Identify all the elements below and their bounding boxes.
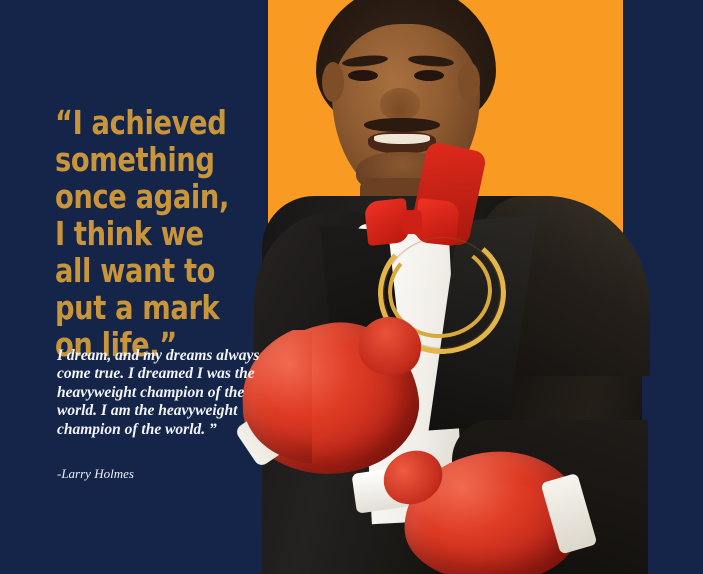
text-column: “I achieved something once again, I thin… <box>0 0 268 574</box>
quote-poster: “I achieved something once again, I thin… <box>0 0 703 574</box>
secondary-quote: I dream, and my dreams always come true.… <box>57 347 263 439</box>
eye-right <box>414 70 444 81</box>
eye-left <box>348 70 378 81</box>
quote-attribution: -Larry Holmes <box>57 466 134 482</box>
nose <box>380 88 420 120</box>
bow-tie-knot <box>402 210 422 234</box>
ear-right <box>458 62 480 102</box>
teeth <box>374 134 430 144</box>
main-quote: “I achieved something once again, I thin… <box>55 104 246 363</box>
mustache <box>364 118 440 132</box>
ear-left <box>322 62 344 102</box>
portrait-photo <box>268 0 623 574</box>
